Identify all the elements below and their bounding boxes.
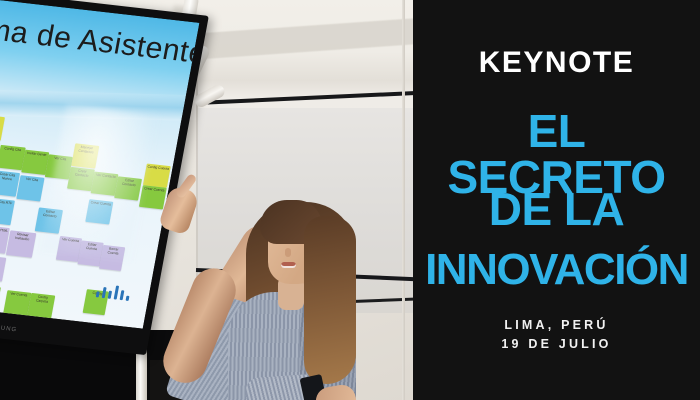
story-map-note: Manejar Calendario [0, 114, 5, 141]
speaker-pointing-hand [158, 184, 200, 235]
story-map-note: Cambiar Formato [0, 255, 6, 282]
speaker-mouth [281, 262, 296, 268]
logo-bar [120, 290, 125, 300]
story-map-note: Config Carpeta [27, 293, 55, 319]
slide-title: Sistema de Asistente [0, 5, 199, 71]
event-location: LIMA, PERÚ [413, 318, 700, 332]
speaker-figure [150, 180, 413, 400]
speaker-photo: Sistema de Asistente Manejar EmailCompon… [0, 0, 413, 400]
headline-line-3: INNOVACIÓN [413, 248, 700, 292]
logo-bar [96, 291, 100, 297]
kicker-keynote: KEYNOTE [413, 46, 700, 80]
story-map-note: Revisar Invitación [6, 230, 36, 258]
event-date: 19 DE JULIO [413, 337, 700, 351]
story-map-note: Ver Cita RTF [0, 198, 15, 225]
speaker-hair-side [304, 216, 356, 384]
logo-bar [126, 296, 130, 301]
headline-line-2: DE LA [413, 186, 700, 232]
logo-bar [114, 285, 120, 299]
logo-bar [108, 291, 112, 299]
keynote-poster: Sistema de Asistente Manejar EmailCompon… [0, 0, 700, 400]
title-panel: KEYNOTE EL SECRETO DE LA INNOVACIÓN LIMA… [413, 0, 700, 400]
tv-brand-label: SAMSUNG [0, 323, 18, 333]
logo-bar [102, 287, 107, 298]
story-map-note: Config Registro [22, 318, 50, 328]
speaker-nose [285, 248, 291, 257]
story-map-note: Ver Cita [16, 175, 44, 201]
story-map-note: Obtener Derechos de Carpeta [0, 284, 1, 313]
